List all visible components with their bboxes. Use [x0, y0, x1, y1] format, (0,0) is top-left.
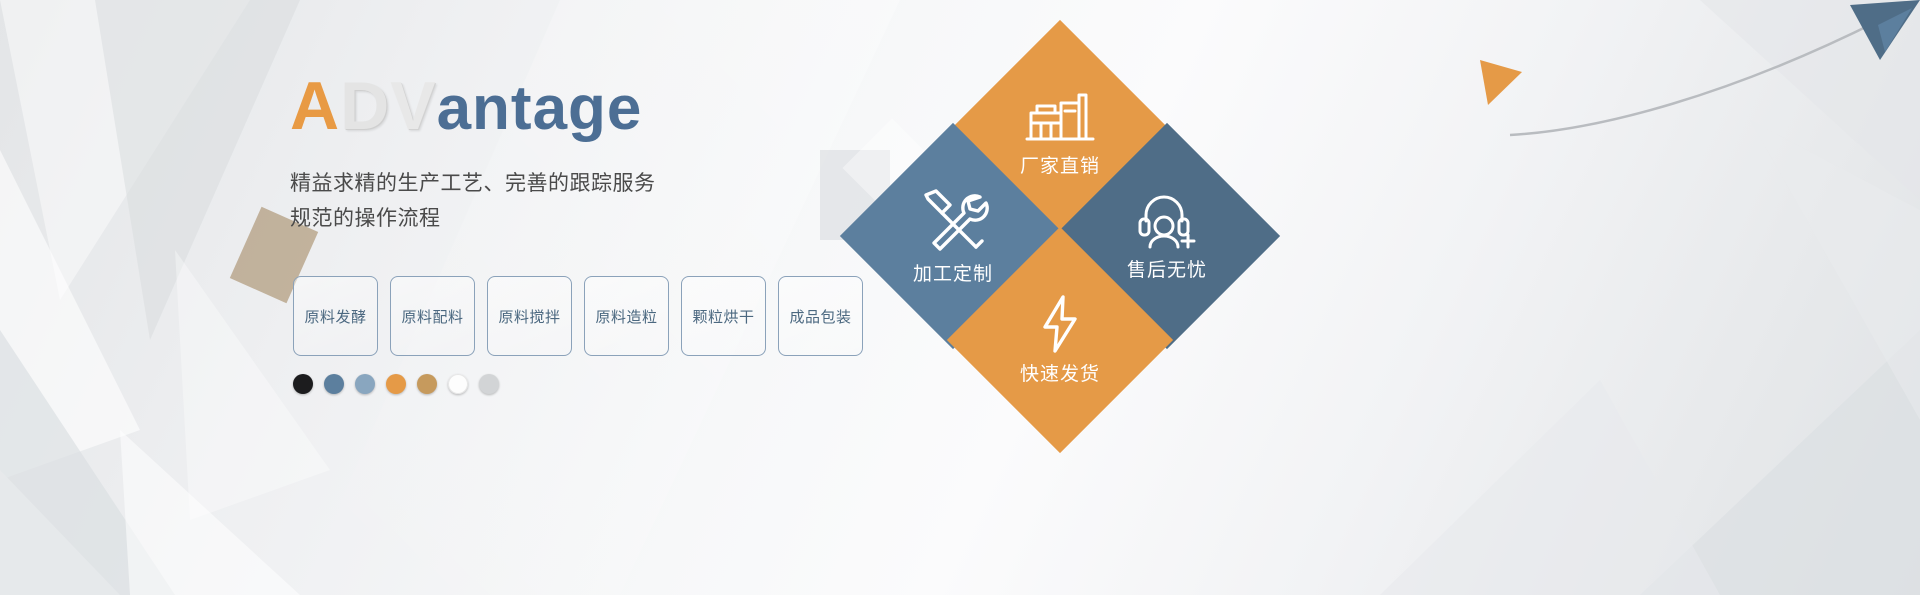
color-swatch-list	[293, 374, 499, 394]
process-step-box[interactable]: 原料搅拌	[487, 276, 572, 356]
subtitle-line-1: 精益求精的生产工艺、完善的跟踪服务	[290, 166, 890, 201]
dot-gray[interactable]	[479, 374, 499, 394]
subtitle-block: 精益求精的生产工艺、完善的跟踪服务 规范的操作流程	[290, 166, 890, 237]
headline-suffix: antage	[437, 74, 643, 143]
process-step-label: 原料配料	[401, 306, 463, 327]
dot-orange[interactable]	[386, 374, 406, 394]
dot-black[interactable]	[293, 374, 313, 394]
process-step-label: 原料发酵	[304, 306, 366, 327]
dot-steelblue[interactable]	[324, 374, 344, 394]
dot-lightblue[interactable]	[355, 374, 375, 394]
process-step-box[interactable]: 颗粒烘干	[681, 276, 766, 356]
process-step-box[interactable]: 原料发酵	[293, 276, 378, 356]
process-step-label: 成品包装	[789, 306, 851, 327]
headline-letter-v: V	[390, 68, 436, 144]
feature-diamond-cluster: 厂家直销 售后无忧	[905, 28, 1325, 428]
tools-icon	[916, 187, 990, 253]
headline-letter-a: A	[290, 68, 340, 144]
advantage-banner: ADVantage 精益求精的生产工艺、完善的跟踪服务 规范的操作流程 原料发酵…	[0, 0, 1920, 595]
dot-tan[interactable]	[417, 374, 437, 394]
factory-icon	[1025, 89, 1095, 145]
process-step-list: 原料发酵原料配料原料搅拌原料造粒颗粒烘干成品包装	[293, 276, 863, 356]
subtitle-line-2: 规范的操作流程	[290, 201, 890, 236]
process-step-box[interactable]: 原料配料	[390, 276, 475, 356]
feature-label-fastship: 快速发货	[1020, 359, 1100, 386]
process-step-box[interactable]: 原料造粒	[584, 276, 669, 356]
process-step-label: 原料搅拌	[498, 306, 560, 327]
dot-white[interactable]	[448, 374, 468, 394]
swoosh-arrow-icon	[1480, 0, 1920, 250]
left-text-column: ADVantage 精益求精的生产工艺、完善的跟踪服务 规范的操作流程	[290, 72, 890, 237]
process-step-label: 原料造粒	[595, 306, 657, 327]
process-step-label: 颗粒烘干	[692, 306, 754, 327]
headset-icon	[1132, 191, 1202, 249]
process-step-box[interactable]: 成品包装	[778, 276, 863, 356]
headline-letter-d: D	[340, 68, 390, 144]
lightning-icon	[1039, 295, 1081, 353]
feature-diamond-fastship[interactable]: 快速发货	[947, 227, 1173, 453]
page-title: ADVantage	[290, 72, 890, 140]
